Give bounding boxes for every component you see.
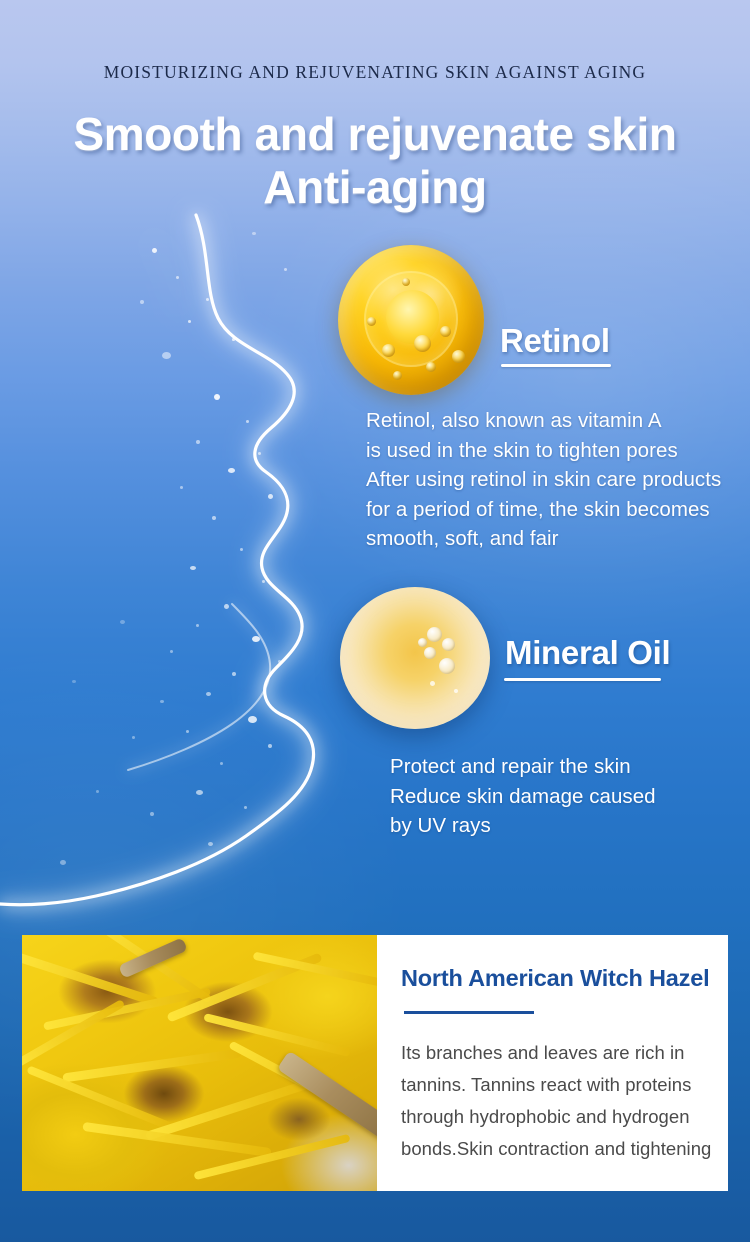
headline-line-1: Smooth and rejuvenate skin	[0, 108, 750, 161]
droplet-core	[386, 290, 439, 344]
ingredient-rule-mineral-oil	[504, 678, 661, 681]
retinol-line-5: smooth, soft, and fair	[366, 524, 750, 554]
retinol-droplet-icon	[338, 245, 484, 395]
card-line-3: through hydrophobic and hydrogen	[401, 1101, 731, 1133]
retinol-line-4: for a period of time, the skin becomes	[366, 495, 750, 525]
card-line-2: tannins. Tannins react with proteins	[401, 1069, 731, 1101]
ingredient-title-mineral-oil: Mineral Oil	[505, 634, 670, 672]
retinol-line-1: Retinol, also known as vitamin A	[366, 406, 750, 436]
headline-line-2: Anti-aging	[0, 161, 750, 214]
card-line-4: bonds.Skin contraction and tightening	[401, 1133, 731, 1165]
witch-hazel-card: North American Witch Hazel Its branches …	[22, 935, 728, 1191]
witch-hazel-photo	[22, 935, 377, 1191]
retinol-line-3: After using retinol in skin care product…	[366, 465, 750, 495]
kicker-text: MOISTURIZING AND REJUVENATING SKIN AGAIN…	[0, 62, 750, 83]
mineral-line-3: by UV rays	[390, 811, 740, 841]
ingredient-rule-retinol	[501, 364, 611, 367]
mineral-oil-droplet-icon	[340, 587, 490, 729]
mineral-line-1: Protect and repair the skin	[390, 752, 740, 782]
retinol-line-2: is used in the skin to tighten pores	[366, 436, 750, 466]
ingredient-title-retinol: Retinol	[500, 322, 610, 360]
card-body: Its branches and leaves are rich in tann…	[401, 1037, 731, 1165]
poster-root: MOISTURIZING AND REJUVENATING SKIN AGAIN…	[0, 0, 750, 1242]
card-line-1: Its branches and leaves are rich in	[401, 1037, 731, 1069]
card-title-rule	[404, 1011, 534, 1014]
mineral-line-2: Reduce skin damage caused	[390, 782, 740, 812]
card-title: North American Witch Hazel	[401, 965, 709, 992]
page-title: Smooth and rejuvenate skin Anti-aging	[0, 108, 750, 214]
ingredient-body-retinol: Retinol, also known as vitamin A is used…	[366, 406, 750, 554]
witch-hazel-text: North American Witch Hazel Its branches …	[377, 935, 728, 1191]
ingredient-body-mineral-oil: Protect and repair the skin Reduce skin …	[390, 752, 740, 841]
